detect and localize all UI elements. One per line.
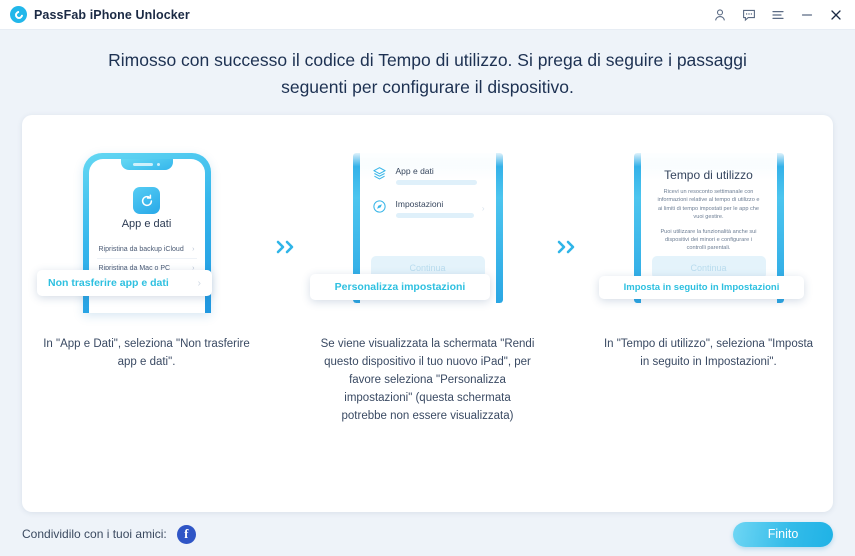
callout-set-up-later[interactable]: Imposta in seguito in Impostazioni [599,276,804,299]
step-2-illustration: App e dati [310,153,545,313]
step-1: App e dati Ripristina da backup iCloud ›… [29,153,264,371]
chevron-right-icon: › [198,277,202,289]
step-2: App e dati [310,153,545,425]
list-item[interactable]: Impostazioni › [371,198,485,218]
list-item[interactable]: App e dati [371,165,485,185]
settings-compass-icon [371,198,388,215]
app-title: PassFab iPhone Unlocker [34,8,190,22]
screen-time-title: Tempo di utilizzo [652,168,766,182]
list-item-text: Impostazioni [396,198,474,218]
placeholder-bar [396,213,474,218]
minimize-icon[interactable] [799,7,814,22]
close-icon[interactable] [828,7,843,22]
step-3-illustration: Tempo di utilizzo Ricevi un resoconto se… [591,153,826,313]
steps-row: App e dati Ripristina da backup iCloud ›… [22,115,833,512]
step-3-caption: In "Tempo di utilizzo", seleziona "Impos… [601,335,816,371]
app-window: PassFab iPhone Unlocker [0,0,855,556]
speaker-grille [133,163,153,166]
placeholder-bar [396,180,477,185]
callout-label: Non trasferire app e dati [48,277,169,289]
step-1-illustration: App e dati Ripristina da backup iCloud ›… [29,153,264,313]
share-label: Condividilo con i tuoi amici: [22,527,167,541]
titlebar-actions [712,7,843,22]
chevron-right-icon: › [192,246,194,253]
steps-card: App e dati Ripristina da backup iCloud ›… [22,115,833,512]
list-item-label: Ripristina da backup iCloud [99,246,184,253]
restore-circular-arrow-icon [133,187,160,214]
list-item-text: App e dati [396,165,477,185]
screen-time-paragraph-1: Ricevi un resoconto settimanale con info… [652,188,766,222]
menu-icon[interactable] [770,7,785,22]
double-chevron-right-icon [264,238,310,256]
callout-label: Personalizza impostazioni [335,281,466,293]
account-icon[interactable] [712,7,727,22]
callout-no-transfer[interactable]: Non trasferire app e dati › [37,270,212,296]
feedback-icon[interactable] [741,7,756,22]
step-2-caption: Se viene visualizzata la schermata "Rend… [320,335,535,425]
app-brand: PassFab iPhone Unlocker [10,6,190,23]
share-section: Condividilo con i tuoi amici: f [22,525,196,544]
passfab-logo-icon [10,6,27,23]
layers-icon [371,165,388,182]
finish-button[interactable]: Finito [733,522,833,547]
callout-customize-settings[interactable]: Personalizza impostazioni [310,274,490,300]
footer-bar: Condividilo con i tuoi amici: f Finito [0,512,855,556]
chevron-right-icon: › [482,204,485,213]
iphone-screen-title: App e dati [89,218,205,230]
page-title: Rimosso con successo il codice di Tempo … [0,30,855,115]
list-item-label: Impostazioni [396,199,474,209]
list-item[interactable]: Ripristina da backup iCloud › [97,240,197,259]
double-chevron-right-icon [545,238,591,256]
iphone-notch [121,159,173,170]
step-1-caption: In "App e Dati", seleziona "Non trasferi… [39,335,254,371]
callout-label: Imposta in seguito in Impostazioni [624,282,780,293]
list-item-label: App e dati [396,166,477,176]
facebook-icon[interactable]: f [177,525,196,544]
step-3: Tempo di utilizzo Ricevi un resoconto se… [591,153,826,371]
front-camera [157,163,160,166]
screen-time-paragraph-2: Puoi utilizzare la funzionalità anche su… [652,228,766,253]
title-bar: PassFab iPhone Unlocker [0,0,855,30]
